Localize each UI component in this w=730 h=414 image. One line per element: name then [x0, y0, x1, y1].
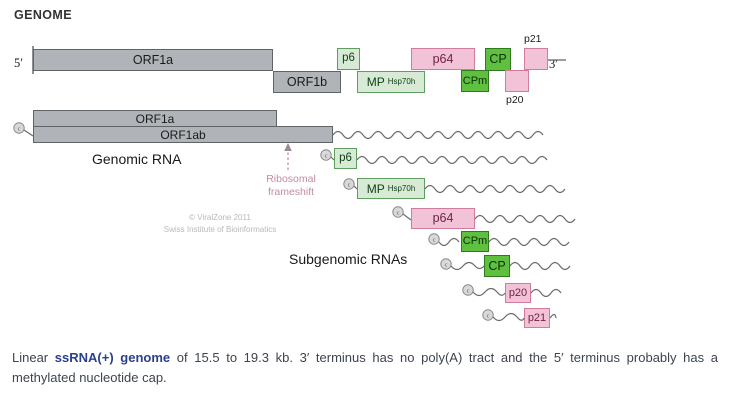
cap-sg-p21	[483, 310, 493, 320]
orf-label: CP	[488, 260, 505, 273]
five-prime-label-genome: 5′	[14, 56, 23, 71]
cap-sg-p20	[463, 285, 473, 295]
orf-label: ORF1b	[287, 76, 327, 89]
rna-tail-sg-p6	[357, 157, 547, 164]
orf-label: p64	[433, 53, 454, 66]
genomic-orf-ORF1a: ORF1a	[33, 110, 277, 127]
orf-box-p64: p64	[411, 48, 475, 70]
genome-diagram: 5′ ORF1a ORF1b p6 MP Hsp70h p64 CPm CP p…	[0, 24, 730, 339]
cap-linker-sg-CPm	[439, 239, 459, 246]
rna-tail-genomic	[333, 132, 543, 139]
cap-linker-sg-p20	[473, 289, 505, 296]
sg-box-p20: p20	[505, 283, 531, 303]
subgenomic-rnas-label: Subgenomic RNAs	[289, 251, 407, 267]
orf-box-ORF1a: ORF1a	[33, 49, 273, 71]
sg-box-CPm: CPm	[461, 231, 489, 252]
orf-label: p6	[342, 53, 355, 65]
cap-genomic-rna	[14, 123, 24, 133]
rna-tail-sg-p20	[531, 290, 561, 297]
orf-box-CP: CP	[485, 48, 511, 71]
sg-box-CP: CP	[484, 255, 510, 277]
cap-sg-CP	[441, 259, 451, 269]
orf-box-p6: p6	[337, 48, 360, 70]
cap-sg-p64	[393, 207, 403, 217]
frameshift-line-1: Ribosomal	[236, 173, 346, 186]
orf-box-p20	[505, 70, 529, 92]
rna-tail-sg-p21	[550, 315, 556, 319]
copyright-notice: © ViralZone 2011 Swiss Institute of Bioi…	[120, 212, 320, 235]
rna-tail-sg-CP	[510, 263, 570, 270]
orf-label: p21	[528, 313, 546, 324]
orf-box-p21	[524, 48, 548, 70]
three-prime-label-genome: 3′	[549, 57, 558, 72]
rna-tail-sg-p64	[475, 216, 575, 223]
orf-label: MP	[367, 76, 385, 88]
genomic-rna-label: Genomic RNA	[92, 151, 181, 167]
frameshift-arrow-head	[284, 143, 292, 151]
sg-box-p21: p21	[524, 308, 550, 328]
orf-label: CPm	[463, 236, 487, 247]
copyright-line-1: © ViralZone 2011	[120, 212, 320, 224]
cap-linker-sg-p21	[493, 314, 524, 321]
sg-box-p64: p64	[411, 208, 475, 229]
orf-box-CPm: CPm	[461, 70, 489, 92]
caption-part-1: Linear	[12, 350, 55, 365]
orf-sublabel: Hsp70h	[388, 78, 416, 86]
cap-linker-sg-CP	[451, 263, 484, 270]
rna-tail-sg-CPm	[489, 239, 569, 246]
frameshift-line-2: frameshift	[236, 186, 346, 199]
caption-highlight: ssRNA(+) genome	[55, 350, 170, 365]
cap-sg-p6	[321, 150, 331, 160]
orf-box-ORF1b: ORF1b	[273, 71, 341, 93]
orf-label: ORF1ab	[160, 129, 205, 141]
orf-label: ORF1a	[136, 113, 175, 125]
genome-caption: Linear ssRNA(+) genome of 15.5 to 19.3 k…	[12, 348, 718, 388]
orf-label: p64	[433, 212, 454, 225]
cap-linker-genomic	[24, 130, 33, 136]
page-title: GENOME	[14, 8, 72, 22]
cap-linker-sg-p64	[403, 214, 411, 220]
orf-label: MP	[367, 183, 385, 195]
copyright-line-2: Swiss Institute of Bioinformatics	[120, 224, 320, 236]
orf-label: CP	[489, 53, 506, 66]
sg-box-MP: MP Hsp70h	[357, 178, 425, 199]
orf-sublabel: Hsp70h	[388, 185, 416, 193]
rna-tail-sg-MP	[425, 186, 565, 193]
orf-label: ORF1a	[133, 54, 173, 67]
orf-label: p20	[509, 288, 527, 299]
cap-sg-CPm	[429, 234, 439, 244]
genomic-orf-ORF1ab: ORF1ab	[33, 126, 333, 143]
orf-box-MP: MP Hsp70h	[357, 71, 425, 93]
ribosomal-frameshift-label: Ribosomal frameshift	[236, 173, 346, 199]
orf-label-p20: p20	[506, 94, 524, 106]
orf-label-p21: p21	[524, 33, 542, 45]
sg-box-p6: p6	[334, 148, 357, 169]
orf-label: CPm	[463, 76, 487, 87]
orf-label: p6	[339, 153, 352, 165]
